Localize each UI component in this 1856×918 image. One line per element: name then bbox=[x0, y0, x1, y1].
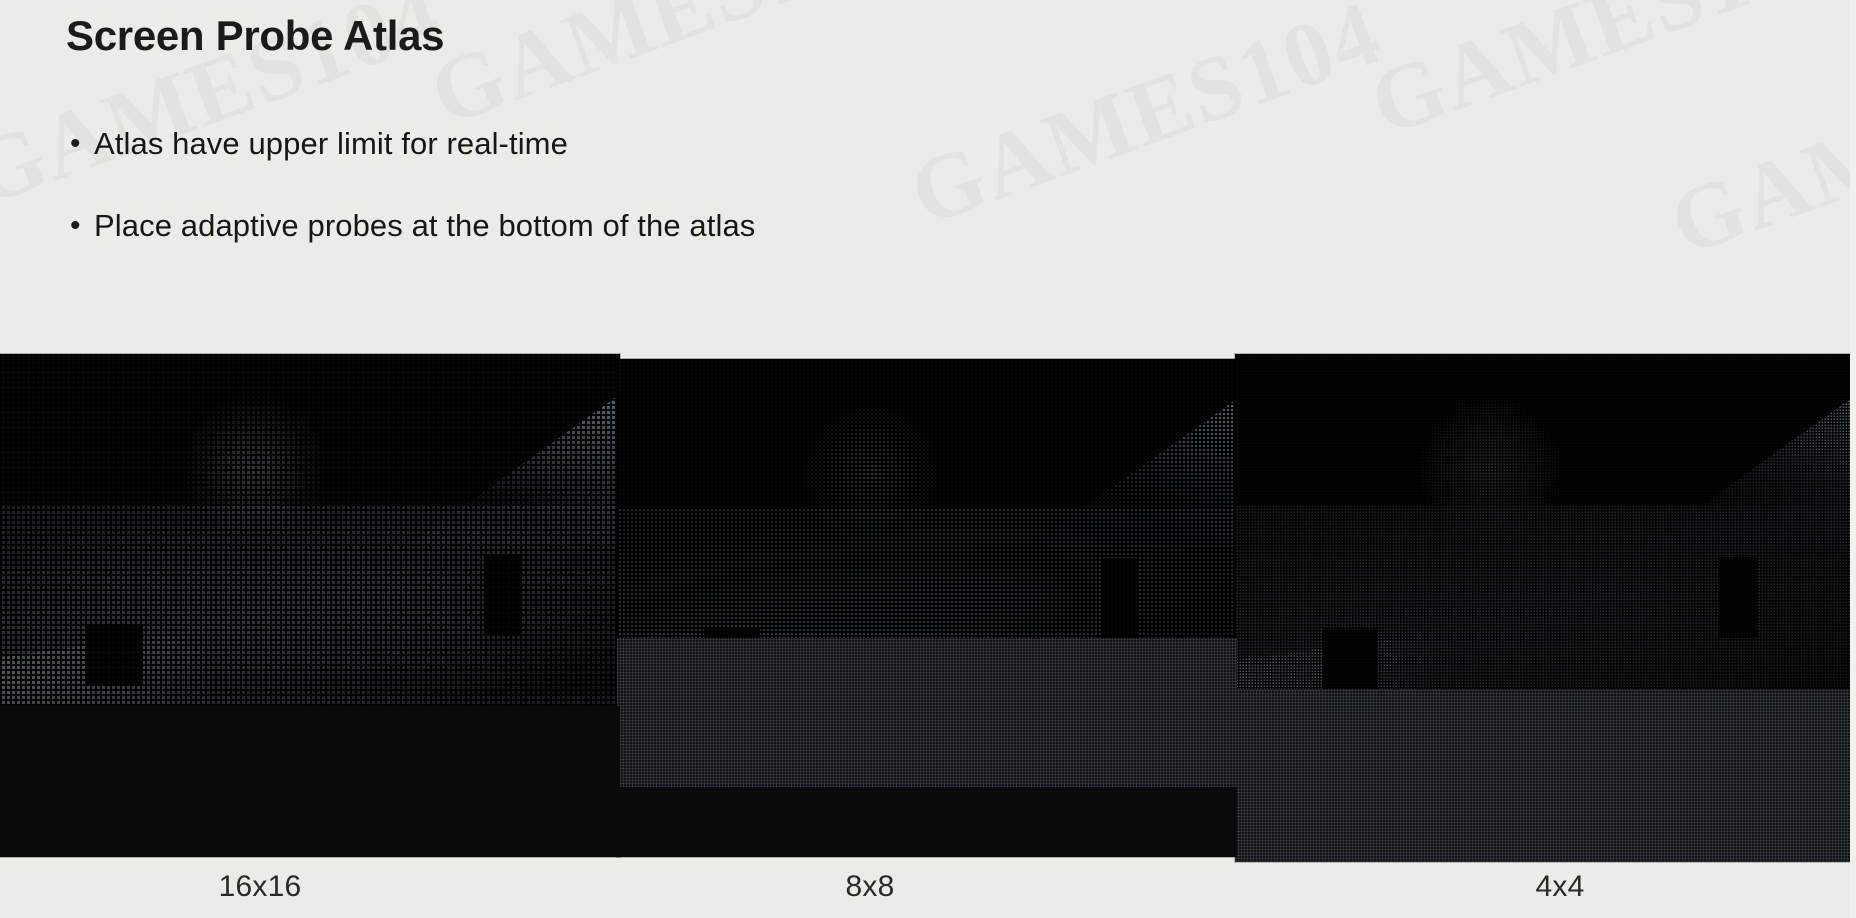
atlas-panel-4x4 bbox=[1235, 354, 1856, 862]
bullet-list: • Atlas have upper limit for real-time •… bbox=[70, 122, 1370, 286]
adaptive-probe-region bbox=[617, 638, 1237, 787]
bullet-marker-icon: • bbox=[70, 122, 94, 166]
figure-captions: 16x16 8x8 4x4 bbox=[0, 862, 1856, 918]
caption-16x16: 16x16 bbox=[150, 870, 370, 904]
bullet-text: Place adaptive probes at the bottom of t… bbox=[94, 204, 755, 248]
slide-title: Screen Probe Atlas bbox=[66, 12, 444, 60]
slide: GAMES104 GAMES104 GAMES104 GAMES104 GAME… bbox=[0, 0, 1856, 918]
window-dark bbox=[1719, 557, 1756, 638]
watermark-text: GAMES104 bbox=[1357, 0, 1855, 157]
bullet-item: • Atlas have upper limit for real-time bbox=[70, 122, 1370, 166]
caption-4x4: 4x4 bbox=[1470, 870, 1650, 904]
watermark-text: GAMES104 bbox=[1657, 9, 1856, 277]
window-dark bbox=[1322, 628, 1378, 689]
atlas-panel-8x8 bbox=[617, 359, 1237, 857]
unused-atlas-region bbox=[0, 706, 620, 857]
unused-atlas-region bbox=[617, 787, 1237, 857]
window-dark bbox=[484, 555, 521, 635]
atlas-comparison-figure bbox=[0, 296, 1856, 862]
window-dark bbox=[1101, 558, 1138, 638]
bullet-text: Atlas have upper limit for real-time bbox=[94, 122, 568, 166]
atlas-panel-16x16 bbox=[0, 354, 620, 857]
adaptive-probe-region bbox=[1235, 689, 1856, 862]
slide-right-edge bbox=[1850, 0, 1856, 918]
caption-8x8: 8x8 bbox=[790, 870, 950, 904]
bullet-marker-icon: • bbox=[70, 204, 94, 248]
window-dark bbox=[87, 626, 143, 686]
bullet-item: • Place adaptive probes at the bottom of… bbox=[70, 204, 1370, 248]
